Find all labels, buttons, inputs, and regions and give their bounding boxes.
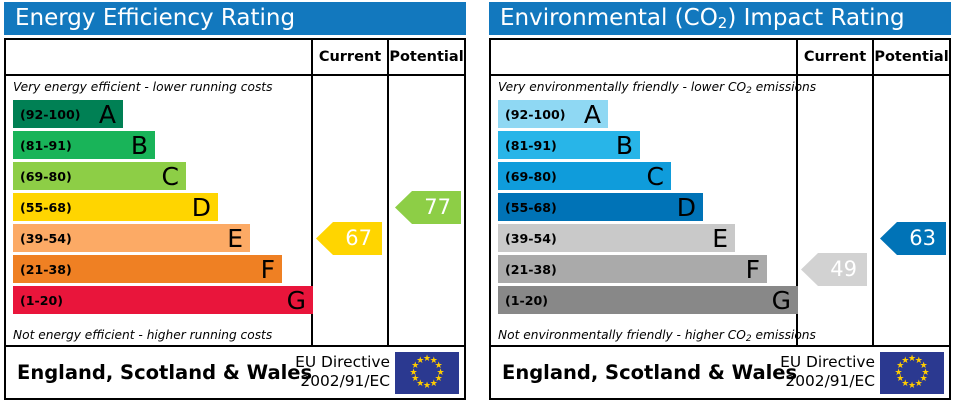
directive-line-1: EU Directive xyxy=(268,353,390,372)
scale-note-top: Very environmentally friendly - lower CO… xyxy=(498,80,816,94)
scale-note-top: Very energy efficient - lower running co… xyxy=(13,80,272,94)
band-bar-a: (92-100)A xyxy=(13,100,123,128)
scale-note-bottom: Not energy efficient - higher running co… xyxy=(13,328,272,342)
chart-footer: England, Scotland & Wales EU Directive 2… xyxy=(6,345,464,398)
band-bar-f: (21-38)F xyxy=(13,255,282,283)
eu-flag-star: ★ xyxy=(901,357,910,366)
table-header-row: Current Potential xyxy=(491,40,949,76)
band-bar-d: (55-68)D xyxy=(13,193,218,221)
band-bar-g: (1-20)G xyxy=(13,286,313,314)
current-rating-column: 49 xyxy=(798,76,872,345)
directive-line-1: EU Directive xyxy=(753,353,875,372)
band-letter-label: A xyxy=(99,100,116,128)
band-letter-label: E xyxy=(712,224,728,252)
band-range-label: (1-20) xyxy=(20,286,63,314)
potential-rating-arrow: 77 xyxy=(395,191,461,224)
chart-title-environmental: Environmental (CO2) Impact Rating xyxy=(489,2,951,35)
band-range-label: (69-80) xyxy=(20,162,72,190)
band-letter-label: F xyxy=(261,255,275,283)
energy-efficiency-rating-chart: Energy Efficiency Rating Current Potenti… xyxy=(0,0,472,404)
band-bar-b: (81-91)B xyxy=(13,131,155,159)
band-letter-label: C xyxy=(162,162,179,190)
band-bar-c: (69-80)C xyxy=(13,162,186,190)
eu-flag-icon: ★★★★★★★★★★★★ xyxy=(395,352,459,394)
current-rating-arrow: 67 xyxy=(316,222,382,255)
eu-flag-star: ★ xyxy=(416,357,425,366)
band-range-label: (21-38) xyxy=(20,255,72,283)
chart-footer: England, Scotland & Wales EU Directive 2… xyxy=(491,345,949,398)
chart-title-energy: Energy Efficiency Rating xyxy=(4,2,466,35)
band-range-label: (55-68) xyxy=(20,193,72,221)
column-header-potential: Potential xyxy=(387,40,464,74)
band-range-label: (81-91) xyxy=(505,131,557,159)
rating-scale-body: Very energy efficient - lower running co… xyxy=(6,76,311,345)
band-range-label: (21-38) xyxy=(505,255,557,283)
band-range-label: (92-100) xyxy=(20,100,81,128)
chart-frame-environmental: Current Potential Very environmentally f… xyxy=(489,38,951,400)
band-letter-label: C xyxy=(647,162,664,190)
band-bar-a: (92-100)A xyxy=(498,100,608,128)
band-letter-label: E xyxy=(227,224,243,252)
table-header-row: Current Potential xyxy=(6,40,464,76)
band-bar-d: (55-68)D xyxy=(498,193,703,221)
column-header-current: Current xyxy=(796,40,872,74)
band-bar-g: (1-20)G xyxy=(498,286,798,314)
potential-rating-column: 77 xyxy=(389,76,464,345)
band-letter-label: G xyxy=(772,286,791,314)
band-range-label: (55-68) xyxy=(505,193,557,221)
column-header-current: Current xyxy=(311,40,387,74)
potential-rating-arrow: 63 xyxy=(880,222,946,255)
directive-line-2: 2002/91/EC xyxy=(268,372,390,391)
epc-charts-page: Energy Efficiency Rating Current Potenti… xyxy=(0,0,957,404)
column-header-potential: Potential xyxy=(872,40,949,74)
band-letter-label: D xyxy=(677,193,696,221)
band-letter-label: G xyxy=(287,286,306,314)
band-letter-label: B xyxy=(131,131,148,159)
band-range-label: (39-54) xyxy=(505,224,557,252)
eu-flag-icon: ★★★★★★★★★★★★ xyxy=(880,352,944,394)
current-rating-arrow: 49 xyxy=(801,253,867,286)
band-range-label: (69-80) xyxy=(505,162,557,190)
rating-scale-body: Very environmentally friendly - lower CO… xyxy=(491,76,796,345)
scale-note-bottom: Not environmentally friendly - higher CO… xyxy=(498,328,816,342)
chart-frame-energy: Current Potential Very energy efficient … xyxy=(4,38,466,400)
band-bars: (92-100)A(81-91)B(69-80)C(55-68)D(39-54)… xyxy=(13,100,311,317)
band-range-label: (39-54) xyxy=(20,224,72,252)
footer-directive-label: EU Directive 2002/91/EC xyxy=(753,353,875,391)
potential-rating-column: 63 xyxy=(874,76,949,345)
environmental-impact-rating-chart: Environmental (CO2) Impact Rating Curren… xyxy=(485,0,957,404)
directive-line-2: 2002/91/EC xyxy=(753,372,875,391)
footer-directive-label: EU Directive 2002/91/EC xyxy=(268,353,390,391)
band-bar-f: (21-38)F xyxy=(498,255,767,283)
band-range-label: (81-91) xyxy=(20,131,72,159)
current-rating-column: 67 xyxy=(313,76,387,345)
band-range-label: (1-20) xyxy=(505,286,548,314)
band-letter-label: B xyxy=(616,131,633,159)
band-letter-label: F xyxy=(746,255,760,283)
band-bar-e: (39-54)E xyxy=(498,224,735,252)
band-range-label: (92-100) xyxy=(505,100,566,128)
band-bars: (92-100)A(81-91)B(69-80)C(55-68)D(39-54)… xyxy=(498,100,796,317)
band-bar-b: (81-91)B xyxy=(498,131,640,159)
band-letter-label: A xyxy=(584,100,601,128)
band-bar-c: (69-80)C xyxy=(498,162,671,190)
band-letter-label: D xyxy=(192,193,211,221)
band-bar-e: (39-54)E xyxy=(13,224,250,252)
